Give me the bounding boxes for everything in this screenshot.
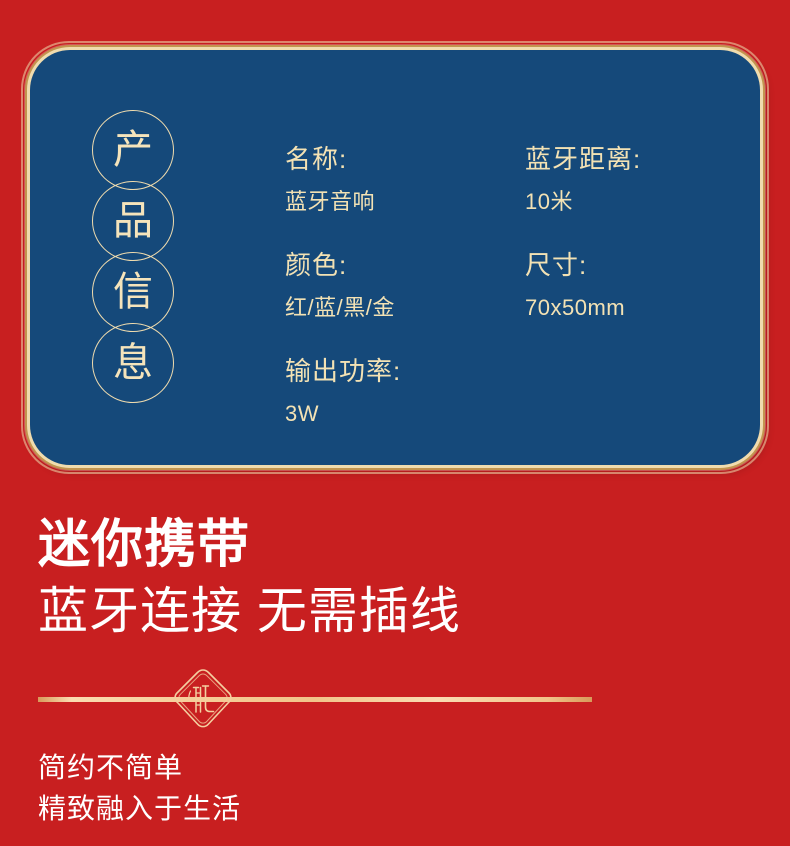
spec-row: 名称: 蓝牙音响 蓝牙距离: 10米 bbox=[285, 143, 755, 216]
spec-label: 蓝牙距离: bbox=[525, 143, 755, 176]
spec-row: 颜色: 红/蓝/黑/金 尺寸: 70x50mm bbox=[285, 249, 755, 322]
spec-label: 颜色: bbox=[285, 249, 525, 282]
circle-char-1-label: 产 bbox=[113, 130, 153, 170]
spec-grid: 名称: 蓝牙音响 蓝牙距离: 10米 颜色: 红/蓝/黑/金 尺寸: 70x50… bbox=[285, 143, 755, 428]
subtext-block: 简约不简单 精致融入于生活 bbox=[38, 748, 538, 829]
circle-char-4-label: 息 bbox=[113, 343, 153, 383]
circle-char-4: 息 bbox=[92, 323, 174, 403]
subtext-line-2: 精致融入于生活 bbox=[38, 789, 538, 830]
spec-item-size: 尺寸: 70x50mm bbox=[525, 249, 755, 322]
spec-value: 红/蓝/黑/金 bbox=[285, 294, 525, 323]
spec-item-name: 名称: 蓝牙音响 bbox=[285, 143, 525, 216]
circle-char-3-label: 信 bbox=[113, 272, 153, 312]
spec-value: 蓝牙音响 bbox=[285, 188, 525, 217]
spec-row: 输出功率: 3W bbox=[285, 355, 755, 428]
spec-item-color: 颜色: 红/蓝/黑/金 bbox=[285, 249, 525, 322]
spec-item-output-power: 输出功率: 3W bbox=[285, 355, 525, 428]
spec-label: 输出功率: bbox=[285, 355, 525, 388]
product-info-card: 产 品 信 息 名称: 蓝牙音响 蓝牙距离: 10米 bbox=[30, 50, 760, 465]
headline-secondary: 蓝牙连接 无需插线 bbox=[38, 583, 738, 639]
spec-value: 10米 bbox=[525, 188, 755, 217]
circle-char-2: 品 bbox=[92, 181, 174, 261]
spec-item-empty bbox=[525, 355, 755, 428]
spec-item-bluetooth-range: 蓝牙距离: 10米 bbox=[525, 143, 755, 216]
divider-line bbox=[38, 697, 592, 702]
spec-value: 3W bbox=[285, 400, 525, 429]
divider bbox=[38, 697, 592, 702]
subtext-line-1: 简约不简单 bbox=[38, 748, 538, 789]
circle-char-1: 产 bbox=[92, 110, 174, 190]
headline-primary: 迷你携带 bbox=[38, 518, 738, 573]
circle-char-3: 信 bbox=[92, 252, 174, 332]
vertical-title-stack: 产 品 信 息 bbox=[92, 110, 174, 394]
headline-block: 迷你携带 蓝牙连接 无需插线 bbox=[38, 518, 738, 639]
spec-label: 尺寸: bbox=[525, 249, 755, 282]
spec-label: 名称: bbox=[285, 143, 525, 176]
spec-value: 70x50mm bbox=[525, 294, 755, 323]
circle-char-2-label: 品 bbox=[113, 201, 153, 241]
diamond-seal-ornament-icon bbox=[171, 667, 235, 731]
product-detail-page: 产 品 信 息 名称: 蓝牙音响 蓝牙距离: 10米 bbox=[0, 0, 790, 846]
